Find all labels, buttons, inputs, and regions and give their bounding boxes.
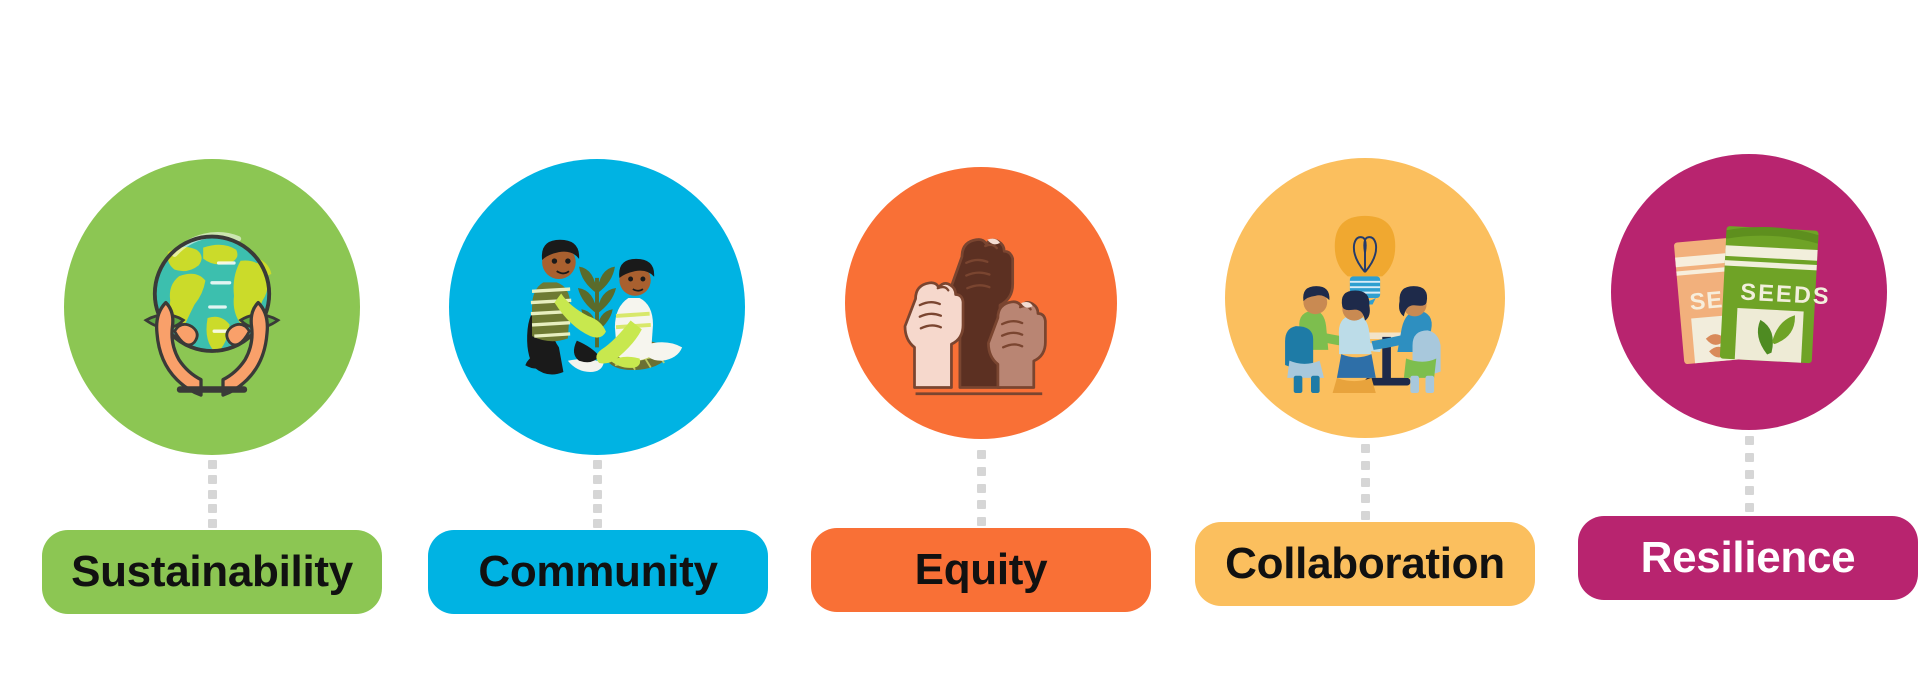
connector-dot [593, 460, 602, 469]
connector-dot [1361, 461, 1370, 470]
connector-collaboration [1361, 444, 1370, 520]
value-pill-collaboration[interactable]: Collaboration [1195, 522, 1535, 606]
connector-dot [977, 484, 986, 493]
value-label-community: Community [478, 550, 717, 594]
connector-sustainability [208, 460, 217, 528]
connector-dot [1361, 444, 1370, 453]
connector-dot [593, 475, 602, 484]
connector-dot [1361, 494, 1370, 503]
connector-community [593, 460, 602, 528]
raised-fists-icon [886, 208, 1076, 398]
value-label-collaboration: Collaboration [1225, 542, 1505, 586]
connector-dot [977, 517, 986, 526]
connector-dot [977, 500, 986, 509]
connector-dot [593, 504, 602, 513]
connector-dot [1745, 453, 1754, 462]
connector-dot [977, 467, 986, 476]
icon-circle-collaboration[interactable] [1225, 158, 1505, 438]
value-pill-community[interactable]: Community [428, 530, 768, 614]
connector-dot [1745, 436, 1754, 445]
connector-dot [977, 450, 986, 459]
value-label-sustainability: Sustainability [71, 550, 353, 594]
value-pill-sustainability[interactable]: Sustainability [42, 530, 382, 614]
connector-equity [977, 450, 986, 526]
hands-holding-globe-icon [102, 197, 322, 417]
icon-circle-equity[interactable] [845, 167, 1117, 439]
connector-dot [1745, 486, 1754, 495]
value-pill-resilience[interactable]: Resilience [1578, 516, 1918, 600]
connector-dot [593, 490, 602, 499]
value-pill-equity[interactable]: Equity [811, 528, 1151, 612]
connector-dot [593, 519, 602, 528]
team-meeting-lightbulb-icon [1257, 190, 1473, 406]
seed-packets-icon: SE SEEDS [1642, 185, 1856, 399]
connector-dot [208, 460, 217, 469]
connector-dot [1361, 511, 1370, 520]
connector-dot [208, 504, 217, 513]
value-label-equity: Equity [915, 548, 1048, 592]
icon-circle-sustainability[interactable] [64, 159, 360, 455]
svg-text:SEEDS: SEEDS [1740, 279, 1832, 310]
icon-circle-community[interactable] [449, 159, 745, 455]
connector-dot [1745, 503, 1754, 512]
icon-circle-resilience[interactable]: SE SEEDS [1611, 154, 1887, 430]
connector-dot [1745, 470, 1754, 479]
value-label-resilience: Resilience [1641, 536, 1856, 580]
connector-dot [1361, 478, 1370, 487]
people-planting-seedling-icon [485, 195, 709, 419]
connector-dot [208, 519, 217, 528]
connector-resilience [1745, 436, 1754, 512]
connector-dot [208, 490, 217, 499]
svg-text:SE: SE [1689, 286, 1725, 315]
values-infographic: Sustainability [0, 0, 1920, 694]
connector-dot [208, 475, 217, 484]
